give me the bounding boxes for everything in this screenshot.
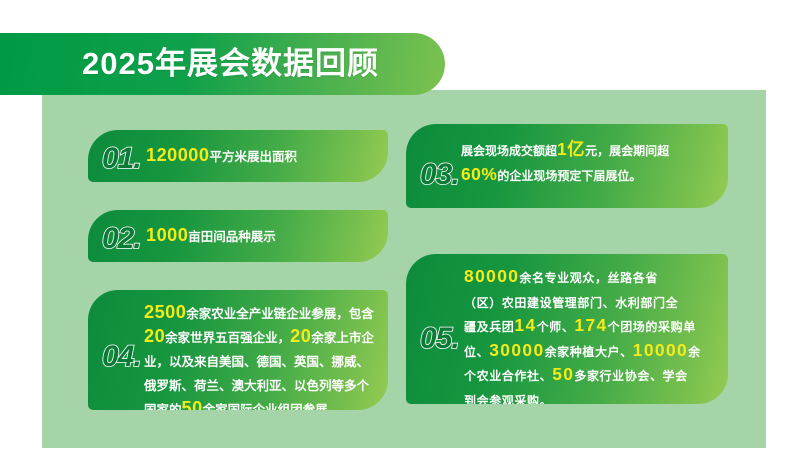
stat-plain-text: 展会现场成交额超 [461, 144, 557, 158]
stat-highlight-value: 10000 [633, 340, 688, 360]
stat-highlight-value: 30000 [489, 340, 544, 360]
stat-text-line: 业，以及来自美国、德国、英国、挪威、 [144, 350, 382, 374]
stat-card-05: 05. 80000余名专业观众，丝路各省（区）农田建设管理部门、水利部门全疆及兵… [406, 254, 728, 404]
stat-numeral: 01. [102, 144, 141, 174]
stat-text-line: 60%的企业现场预定下届展位。 [461, 164, 716, 189]
stat-plain-text: 位、 [464, 345, 489, 359]
stat-numeral: 02. [102, 224, 141, 254]
stat-highlight-value: 174 [574, 315, 607, 335]
stat-text: 120000平方米展出面积 [146, 145, 297, 169]
stat-text: 1000亩田间品种展示 [146, 225, 276, 249]
stat-text-line: 80000余名专业观众，丝路各省 [464, 266, 716, 291]
stat-card-04: 04. 2500余家农业全产业链企业参展，包含20余家世界五百强企业，20余家上… [88, 290, 388, 410]
stat-plain-text: 余 [688, 345, 701, 359]
stat-plain-text: 余家种植大户、 [545, 345, 633, 359]
stat-highlight-value: 50 [552, 364, 574, 384]
stat-numeral: 05. [420, 324, 459, 354]
stat-text-line: 个农业合作社、50多家行业协会、学会 [464, 364, 716, 389]
stat-plain-text: 业，以及来自美国、德国、英国、挪威、 [144, 355, 369, 369]
stat-plain-text: 的企业现场预定下届展位。 [497, 169, 641, 183]
stat-plain-text: 个师、 [537, 320, 575, 334]
stat-plain-text: 余家农业全产业链企业参展，包含 [186, 307, 374, 321]
stat-highlight-value: 14 [514, 315, 536, 335]
stat-plain-text: 多家行业协会、学会 [574, 369, 687, 383]
stat-plain-text: 余家国际企业组团参展。 [203, 403, 341, 410]
stat-plain-text: 平方米展出面积 [209, 150, 297, 164]
stat-text-line: 国家的50余家国际企业组团参展。 [144, 398, 382, 410]
stat-highlight-value: 2500 [144, 302, 186, 322]
stat-highlight-value: 20 [144, 326, 165, 346]
stat-text-line: 展会现场成交额超1亿元，展会期间超 [461, 139, 716, 164]
stat-text: 2500余家农业全产业链企业参展，包含20余家世界五百强企业，20余家上市企业，… [144, 302, 382, 410]
stat-card-03: 03. 展会现场成交额超1亿元，展会期间超60%的企业现场预定下届展位。 [406, 124, 728, 208]
stat-card-02: 02. 1000亩田间品种展示 [88, 210, 388, 262]
stat-highlight-value: 20 [290, 326, 311, 346]
stat-plain-text: 个团场的采购单 [608, 320, 696, 334]
stat-plain-text: 亩田间品种展示 [188, 230, 276, 244]
stat-highlight-value: 60% [461, 164, 497, 184]
stat-plain-text: 到会参观采购。 [464, 394, 552, 405]
stat-text-line: 120000平方米展出面积 [146, 145, 297, 169]
stat-text: 80000余名专业观众，丝路各省（区）农田建设管理部门、水利部门全疆及兵团14个… [464, 266, 716, 404]
stat-text-line: 位、30000余家种植大户、10000余 [464, 340, 716, 365]
stat-text: 展会现场成交额超1亿元，展会期间超60%的企业现场预定下届展位。 [461, 139, 716, 189]
stat-numeral: 03. [420, 160, 459, 190]
stat-text-line: 1000亩田间品种展示 [146, 225, 276, 249]
stat-text-line: 到会参观采购。 [464, 389, 716, 405]
stat-plain-text: 余家上市企 [311, 331, 374, 345]
stat-card-01: 01. 120000平方米展出面积 [88, 130, 388, 182]
stat-highlight-value: 50 [182, 398, 203, 410]
stat-text-line: （区）农田建设管理部门、水利部门全 [464, 291, 716, 316]
stat-numeral: 04. [102, 342, 141, 372]
stat-plain-text: 个农业合作社、 [464, 369, 552, 383]
stat-plain-text: 俄罗斯、荷兰、澳大利亚、以色列等多个 [144, 379, 369, 393]
stat-highlight-value: 1000 [146, 225, 188, 245]
stat-highlight-value: 80000 [464, 266, 519, 286]
stat-highlight-value: 120000 [146, 145, 209, 165]
stat-text-line: 20余家世界五百强企业，20余家上市企 [144, 326, 382, 350]
stat-highlight-value: 1亿 [557, 139, 585, 159]
stat-text-line: 疆及兵团14个师、174个团场的采购单 [464, 315, 716, 340]
stat-plain-text: 余名专业观众，丝路各省 [519, 271, 658, 285]
page-title: 2025年展会数据回顾 [82, 39, 379, 89]
stat-text-line: 俄罗斯、荷兰、澳大利亚、以色列等多个 [144, 374, 382, 398]
stat-text-line: 2500余家农业全产业链企业参展，包含 [144, 302, 382, 326]
infographic-canvas: 2025年展会数据回顾 01. 120000平方米展出面积 02. 1000亩田… [0, 0, 800, 476]
stat-plain-text: 国家的 [144, 403, 182, 410]
stat-plain-text: （区）农田建设管理部门、水利部门全 [464, 296, 678, 310]
stat-plain-text: 疆及兵团 [464, 320, 514, 334]
stat-plain-text: 余家世界五百强企业， [165, 331, 290, 345]
stat-plain-text: 元，展会期间超 [585, 144, 669, 158]
